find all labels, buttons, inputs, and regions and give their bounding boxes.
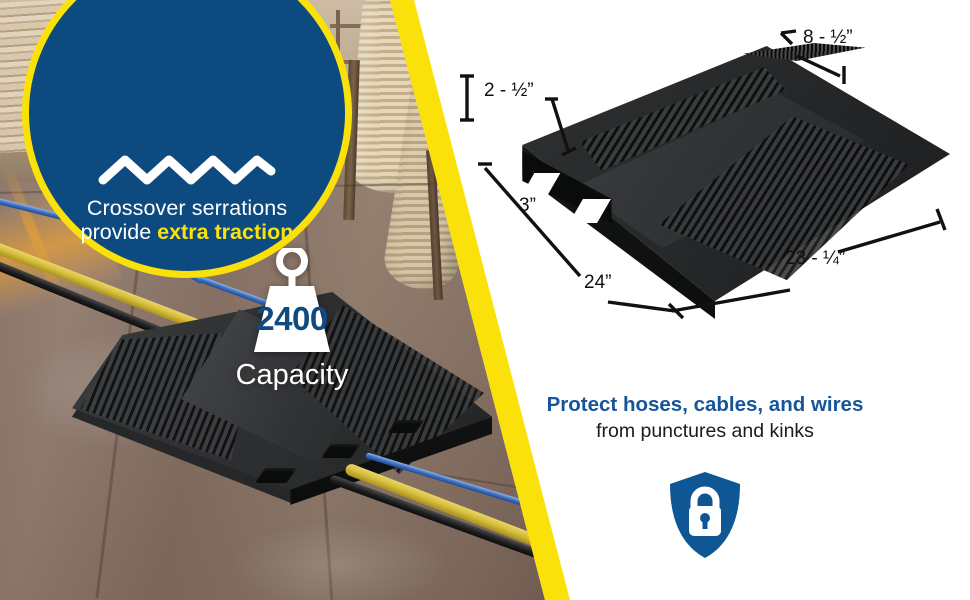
dim-line-24a: [485, 168, 580, 276]
bottom-copy-block: Protect hoses, cables, and wires from pu…: [440, 392, 970, 444]
dim-line-3: [552, 99, 568, 150]
specs-panel: 8 - ½” 2 - ½” 3” 24” 23 - ¼” Protect hos…: [440, 0, 970, 600]
bottom-subline: from punctures and kinks: [440, 419, 970, 444]
capacity-badge: 2400 lb Capacity: [222, 248, 362, 388]
badge-line-2: provide extra traction: [81, 220, 294, 245]
dim-line-24b: [608, 302, 675, 311]
shield-icon-wrap: [440, 470, 970, 565]
dim-tick-8half-start: [781, 33, 792, 44]
badge-line-2-prefix: provide: [81, 220, 158, 244]
zigzag-serration-icon: [98, 154, 276, 186]
dimension-label-8half: 8 - ½”: [803, 27, 853, 49]
floor-stain: [230, 520, 450, 600]
badge-line-2-emphasis: extra traction: [157, 220, 293, 244]
dim-line-23quarter-a: [672, 290, 790, 311]
dimension-label-24: 24”: [584, 272, 611, 294]
dimension-label-3: 3”: [519, 195, 536, 217]
product-infographic: 2400 lb Capacity Crossover serrations pr…: [0, 0, 970, 600]
dimension-label-2half: 2 - ½”: [484, 80, 534, 102]
dim-line-23quarter-b: [838, 222, 940, 252]
capacity-label: Capacity: [216, 360, 368, 392]
capacity-value: 2400: [222, 300, 362, 338]
dimension-label-23quarter: 23 - ¼”: [785, 248, 845, 270]
badge-line-1: Crossover serrations: [87, 196, 287, 220]
shield-lock-icon: [667, 470, 743, 560]
bottom-headline: Protect hoses, cables, and wires: [440, 392, 970, 418]
capacity-unit: lb: [222, 336, 362, 356]
dim-line-8half: [797, 56, 840, 76]
dim-tick-23quarter-end: [937, 209, 945, 230]
dim-lead-8half-a: [781, 31, 796, 33]
